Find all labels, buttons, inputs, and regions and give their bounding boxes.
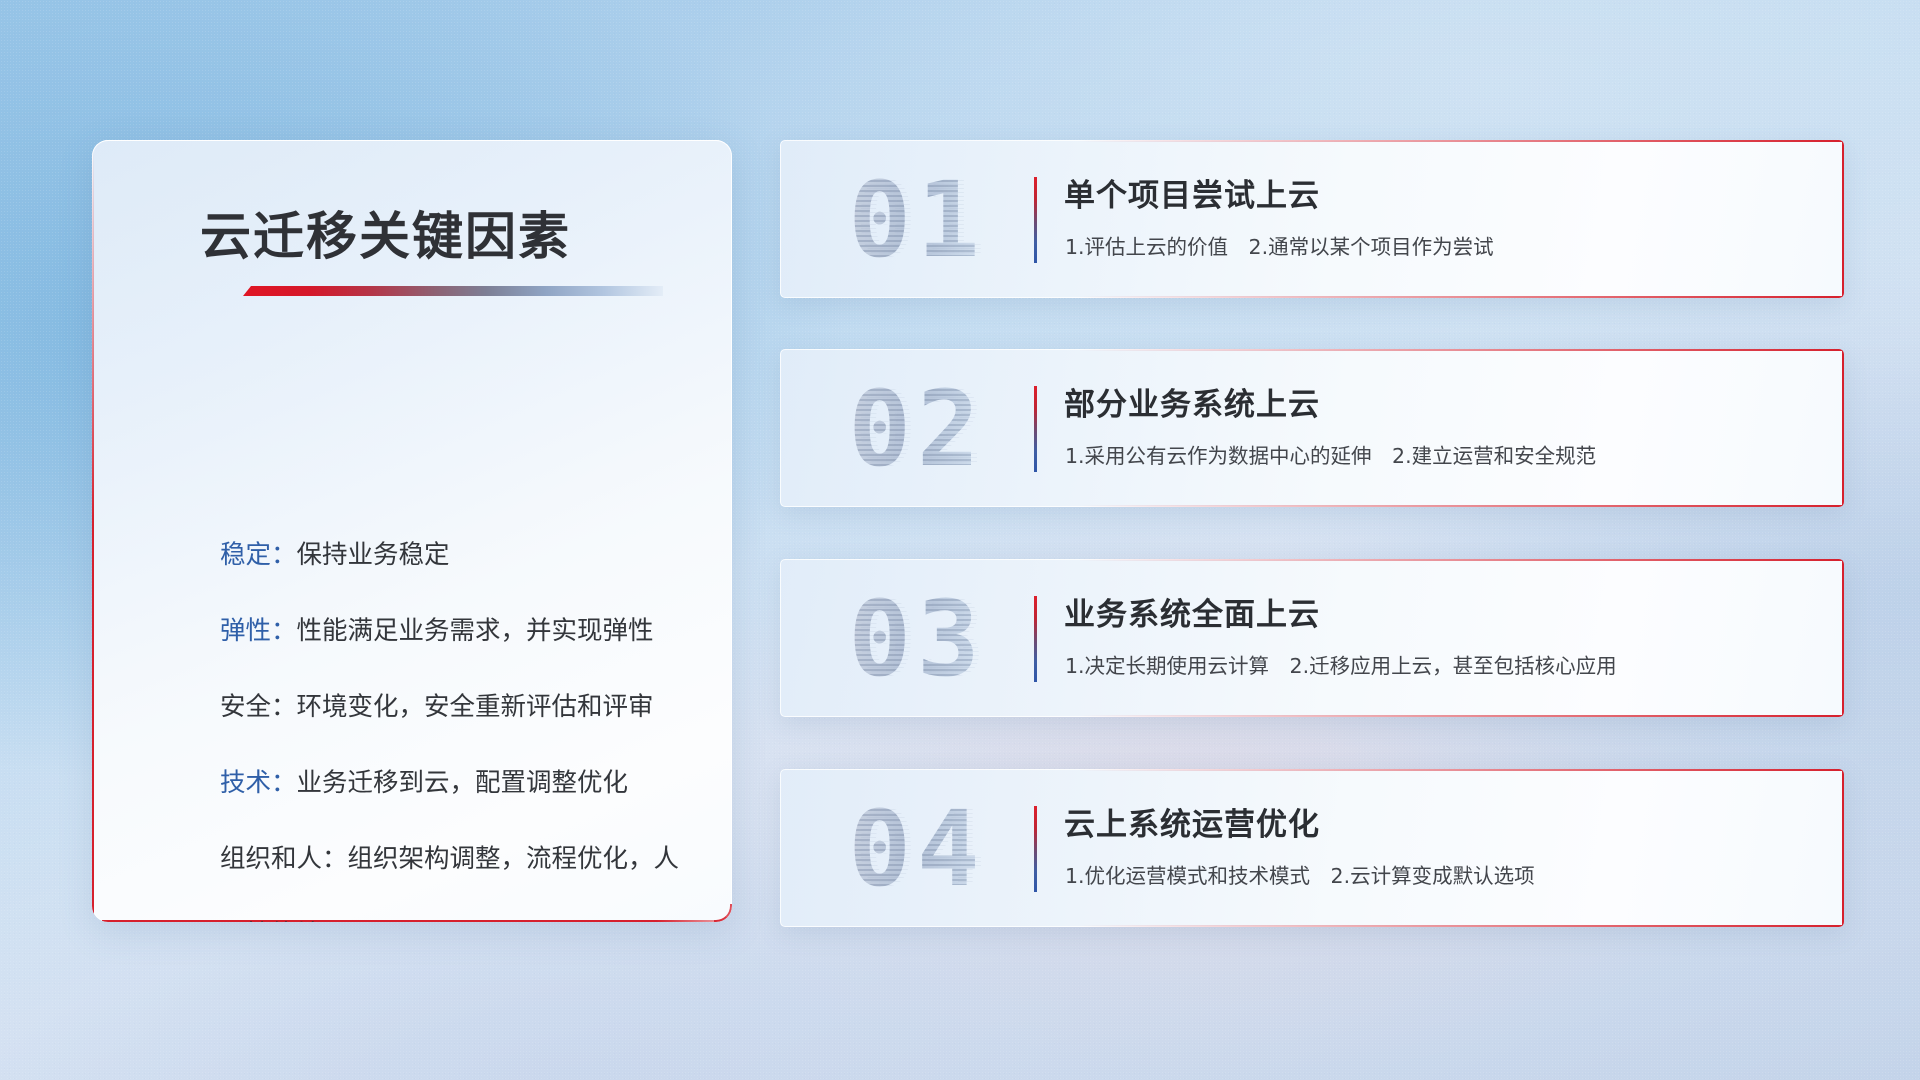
page-title: 云迁移关键因素 — [200, 195, 571, 269]
step-description: 1.优化运营模式和技术模式 2.云计算变成默认选项 — [1065, 859, 1535, 889]
step-card-04[interactable]: 04 04 云上系统运营优化 1.优化运营模式和技术模式 2.云计算变成默认选项 — [780, 769, 1844, 927]
factor-label: 弹性： — [220, 616, 297, 646]
step-number-glitch-layer: 04 — [823, 789, 1023, 909]
step-right-red-accent — [1842, 769, 1844, 927]
step-card-02[interactable]: 02 02 部分业务系统上云 1.采用公有云作为数据中心的延伸 2.建立运营和安… — [780, 349, 1844, 507]
slide-stage: 云迁移关键因素 稳定：保持业务稳定 弹性：性能满足业务需求，并实现弹性 安全：环… — [0, 0, 1920, 1080]
factor-text: 环境变化，安全重新评估和评审 — [297, 692, 654, 722]
factor-label: 组织和人： — [220, 844, 348, 874]
key-factors-list: 稳定：保持业务稳定 弹性：性能满足业务需求，并实现弹性 安全：环境变化，安全重新… — [220, 517, 700, 922]
step-divider-bar — [1034, 806, 1037, 892]
step-number-glitch-layer: 03 — [823, 579, 1023, 699]
card-left-red-accent — [92, 149, 94, 922]
step-description: 1.采用公有云作为数据中心的延伸 2.建立运营和安全规范 — [1065, 439, 1596, 469]
step-divider-bar — [1034, 177, 1037, 263]
list-item: 弹性：性能满足业务需求，并实现弹性 — [220, 593, 700, 669]
factor-text: 性能满足业务需求，并实现弹性 — [297, 616, 654, 646]
factor-text: 业务迁移到云，配置调整优化 — [297, 768, 629, 798]
step-description: 1.评估上云的价值 2.通常以某个项目作为尝试 — [1065, 230, 1494, 260]
step-right-red-accent — [1842, 559, 1844, 717]
factor-label: 安全： — [220, 692, 297, 722]
step-divider-bar — [1034, 596, 1037, 682]
list-item: 稳定：保持业务稳定 — [220, 517, 700, 593]
step-bottom-red-accent — [1078, 925, 1844, 927]
step-top-red-accent — [1078, 349, 1844, 351]
key-factors-card: 云迁移关键因素 稳定：保持业务稳定 弹性：性能满足业务需求，并实现弹性 安全：环… — [92, 140, 732, 922]
step-description: 1.决定长期使用云计算 2.迁移应用上云，甚至包括核心应用 — [1065, 649, 1617, 679]
step-bottom-red-accent — [1078, 296, 1844, 298]
factor-label: 技术： — [220, 768, 297, 798]
step-divider-bar — [1034, 386, 1037, 472]
step-title: 单个项目尝试上云 — [1064, 170, 1320, 215]
step-top-red-accent — [1078, 769, 1844, 771]
list-item: 技术：业务迁移到云，配置调整优化 — [220, 745, 700, 821]
step-right-red-accent — [1842, 140, 1844, 298]
step-number-glitch-layer: 02 — [823, 369, 1023, 489]
step-top-red-accent — [1078, 140, 1844, 142]
step-title: 业务系统全面上云 — [1064, 589, 1320, 634]
factor-label: 稳定： — [220, 540, 297, 570]
step-card-03[interactable]: 03 03 业务系统全面上云 1.决定长期使用云计算 2.迁移应用上云，甚至包括… — [780, 559, 1844, 717]
title-gradient-underline — [243, 286, 663, 296]
step-bottom-red-accent — [1078, 715, 1844, 717]
step-top-red-accent — [1078, 559, 1844, 561]
step-card-01[interactable]: 01 01 单个项目尝试上云 1.评估上云的价值 2.通常以某个项目作为尝试 — [780, 140, 1844, 298]
list-item: 安全：环境变化，安全重新评估和评审 — [220, 669, 700, 745]
list-item: 组织和人：组织架构调整，流程优化，人员技能培训 — [220, 821, 700, 922]
factor-text: 保持业务稳定 — [297, 540, 450, 570]
step-title: 部分业务系统上云 — [1064, 379, 1320, 424]
step-number-glitch-layer: 01 — [823, 160, 1023, 280]
step-bottom-red-accent — [1078, 505, 1844, 507]
step-title: 云上系统运营优化 — [1064, 799, 1320, 844]
step-right-red-accent — [1842, 349, 1844, 507]
